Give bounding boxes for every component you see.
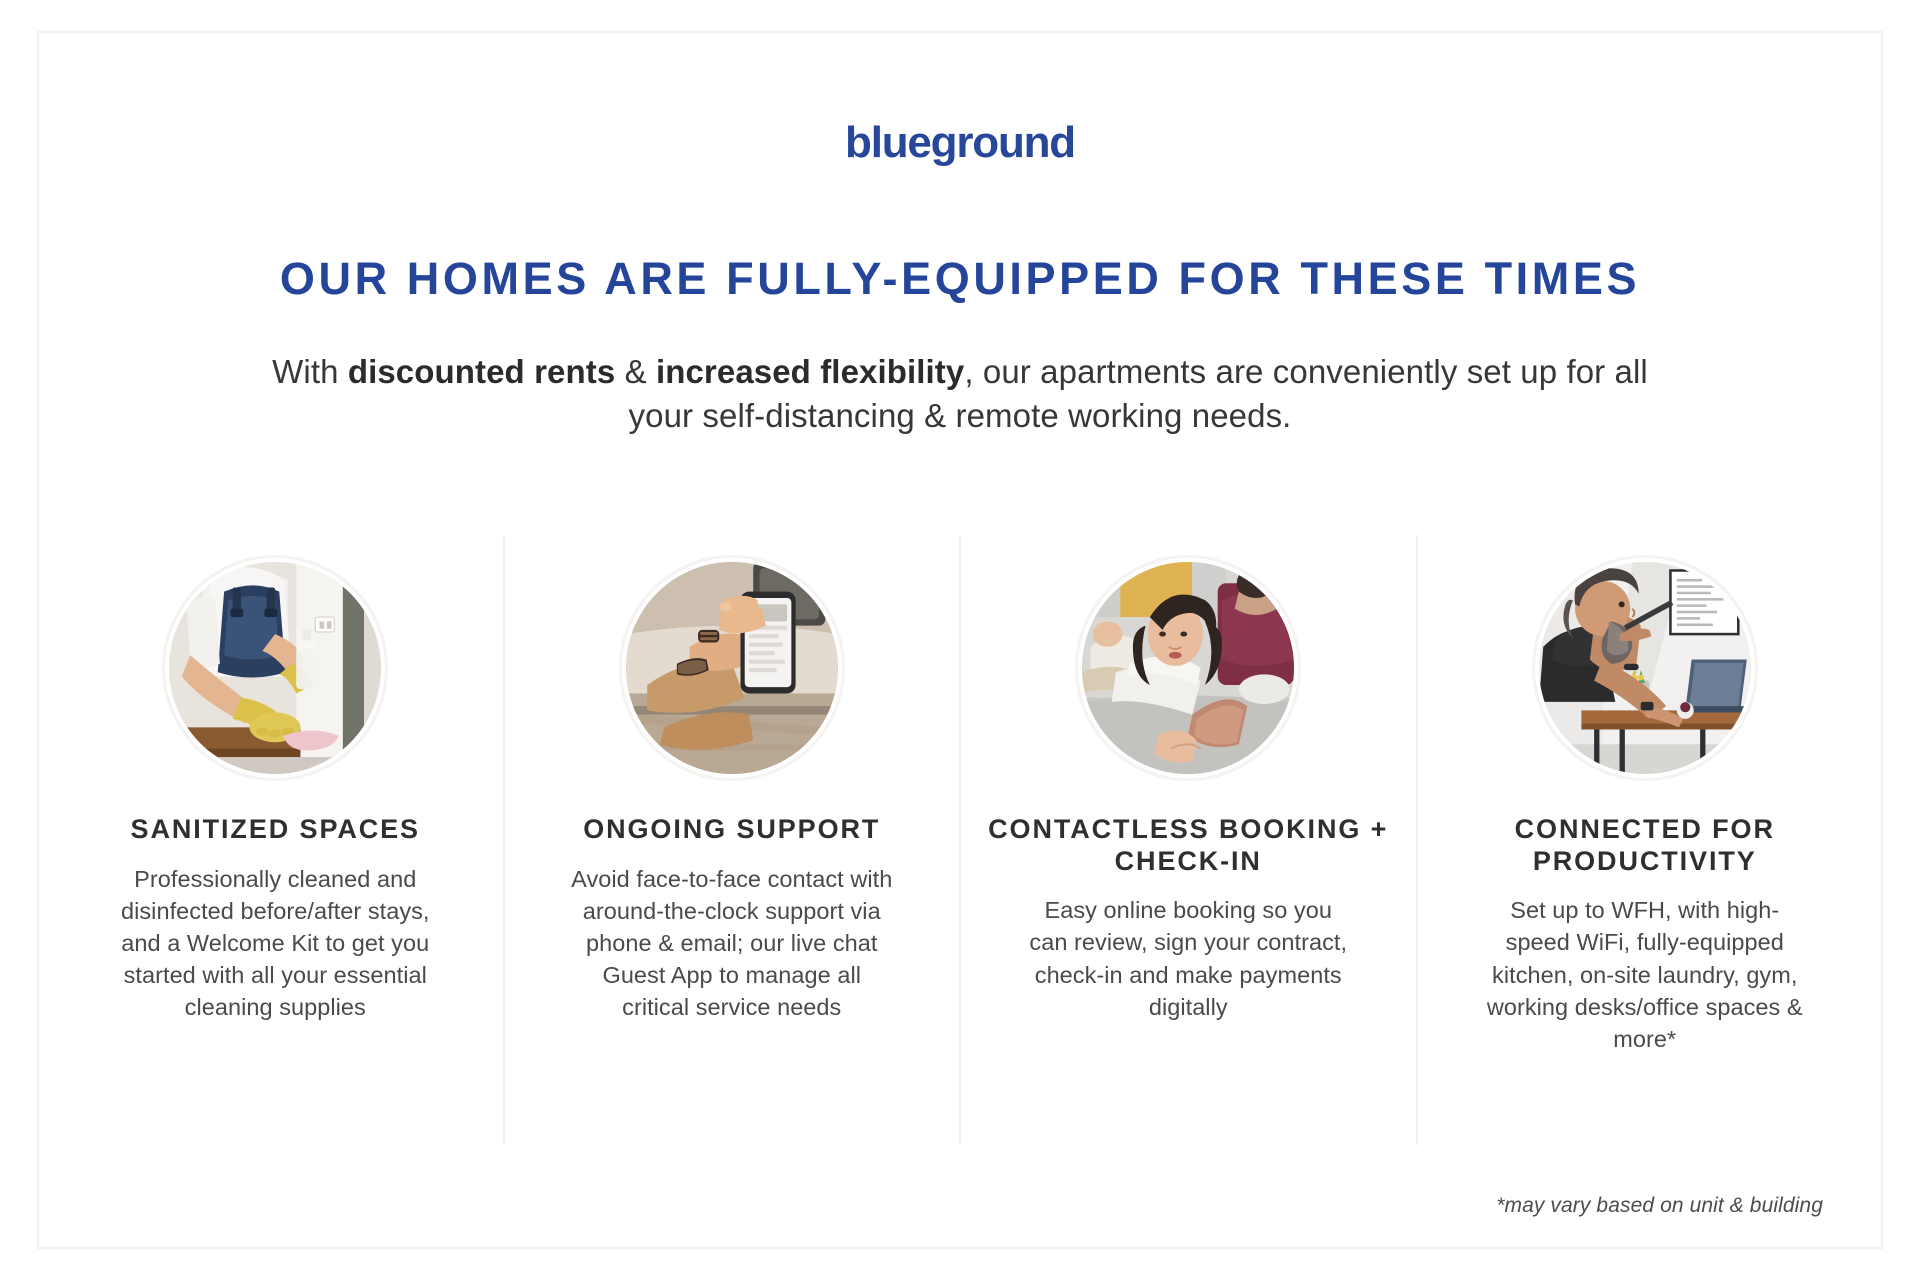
hands-holding-phone-photo [626,562,838,774]
promotional-page: blueground OUR HOMES ARE FULLY-EQUIPPED … [0,0,1920,1280]
subhead-text-1: With [272,353,348,390]
feature-image-frame [1532,555,1758,781]
feature-title: SANITIZED SPACES [131,814,420,846]
cleaning-person-photo [169,562,381,774]
feature-column-sanitized-spaces: SANITIZED SPACES Professionally cleaned … [48,535,503,1145]
feature-column-contactless-booking: CONTACTLESS BOOKING + CHECK-IN Easy onli… [959,535,1416,1145]
subhead-bold-increased-flexibility: increased flexibility [656,353,964,390]
feature-column-connected-productivity: CONNECTED FOR PRODUCTIVITY Set up to WFH… [1416,535,1873,1145]
feature-image-frame [619,555,845,781]
woman-with-tablet-on-bed-photo [1082,562,1294,774]
feature-title: ONGOING SUPPORT [583,814,880,846]
footnote-disclaimer: *may vary based on unit & building [1496,1194,1823,1218]
feature-image-frame [1075,555,1301,781]
subhead-bold-discounted-rents: discounted rents [348,353,615,390]
feature-body: Set up to WFH, with high-speed WiFi, ful… [1480,894,1810,1055]
feature-body: Professionally cleaned and disinfected b… [110,863,440,1024]
feature-title: CONNECTED FOR PRODUCTIVITY [1440,814,1851,877]
feature-body: Easy online booking so you can review, s… [1023,894,1353,1023]
man-working-at-desk-photo [1539,562,1751,774]
feature-columns: SANITIZED SPACES Professionally cleaned … [48,535,1872,1145]
feature-column-ongoing-support: ONGOING SUPPORT Avoid face-to-face conta… [503,535,960,1145]
feature-title: CONTACTLESS BOOKING + CHECK-IN [983,814,1394,877]
feature-image-frame [162,555,388,781]
blueground-logo: blueground [0,121,1920,165]
subhead-text-2: & [615,353,656,390]
feature-body: Avoid face-to-face contact with around-t… [567,863,897,1024]
page-headline: OUR HOMES ARE FULLY-EQUIPPED FOR THESE T… [0,254,1920,304]
page-subheading: With discounted rents & increased flexib… [250,350,1670,438]
